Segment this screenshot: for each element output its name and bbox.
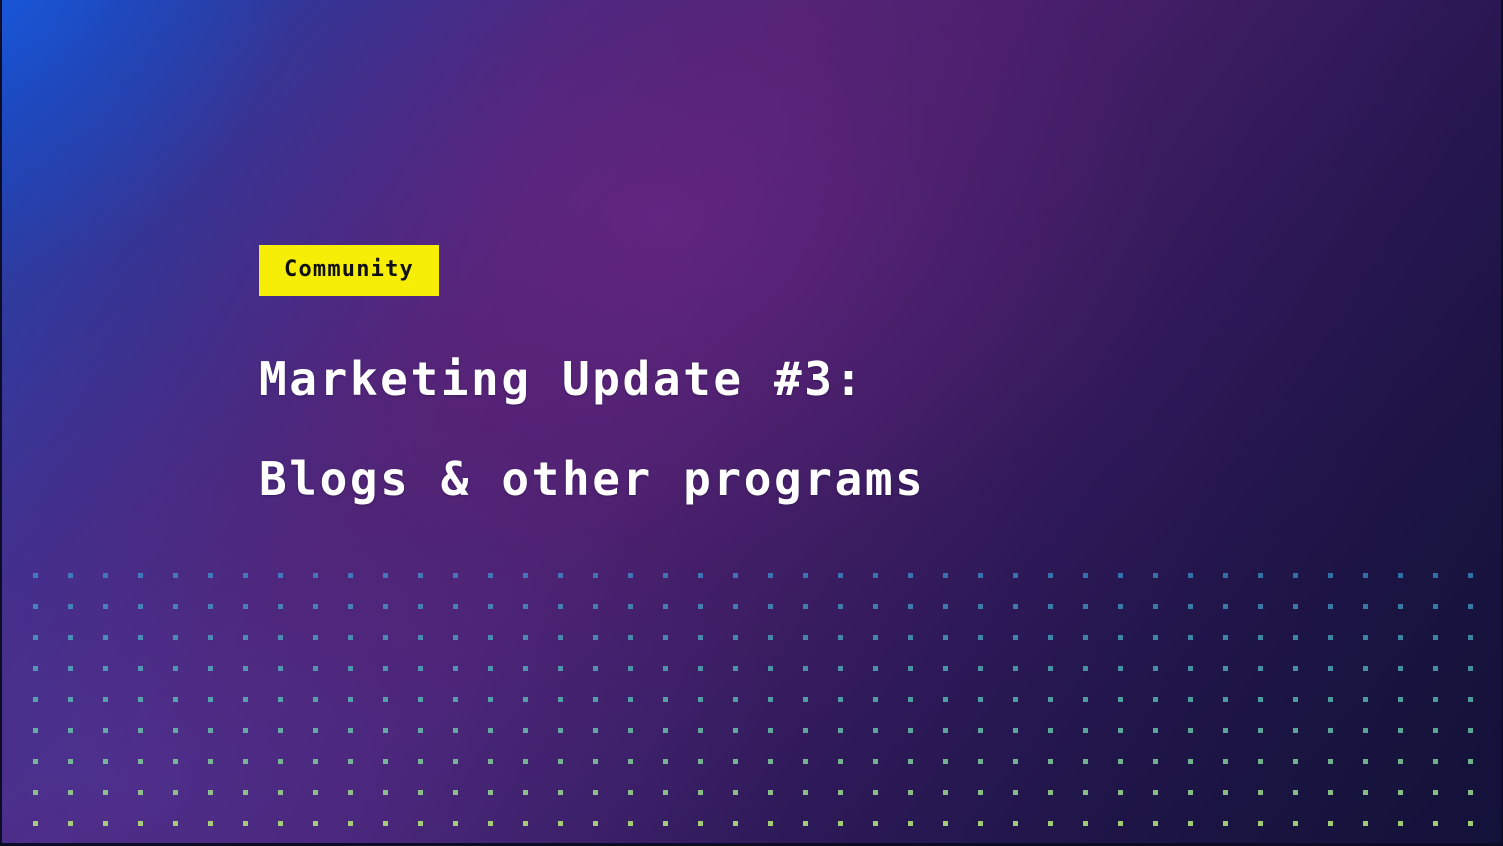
category-badge[interactable]: Community xyxy=(259,245,439,296)
hero-banner: Community Marketing Update #3: Blogs & o… xyxy=(0,0,1503,846)
dot-grid-pattern xyxy=(2,560,1503,846)
page-title-line-2: Blogs & other programs xyxy=(259,429,1379,529)
hero-content: Community Marketing Update #3: Blogs & o… xyxy=(259,245,1379,529)
page-title: Marketing Update #3: Blogs & other progr… xyxy=(259,329,1379,529)
page-title-line-1: Marketing Update #3: xyxy=(259,329,1379,429)
